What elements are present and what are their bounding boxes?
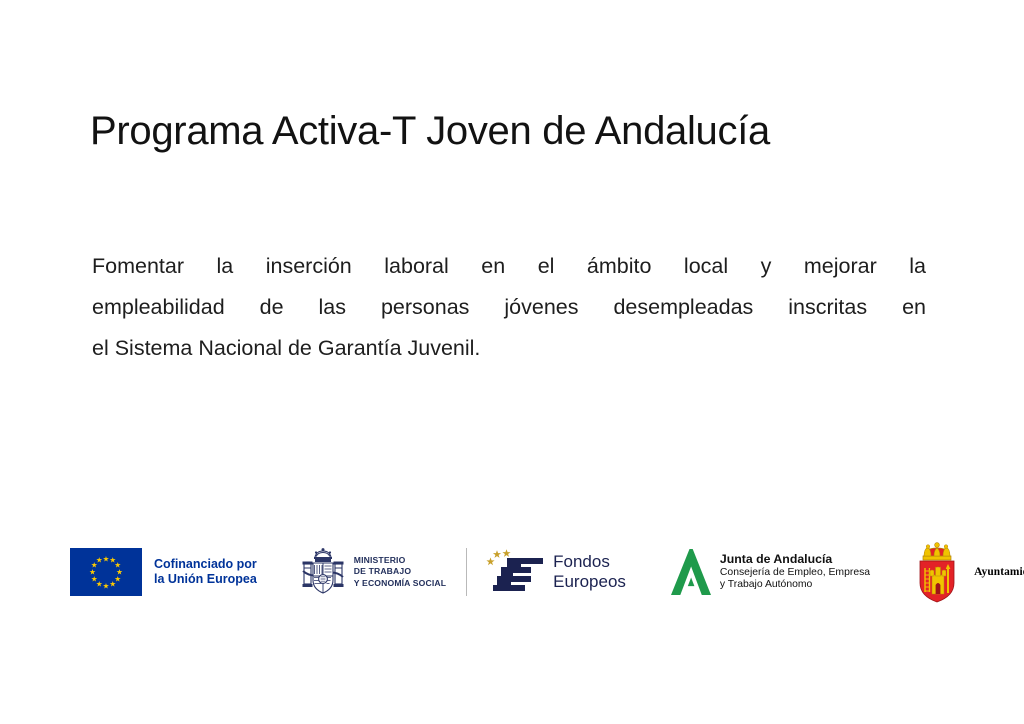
page-title: Programa Activa-T Joven de Andalucía [90, 109, 950, 154]
fondos-label: Fondos Europeos [553, 552, 626, 592]
eu-label-line-2: la Unión Europea [154, 572, 257, 588]
junta-sub-line-1: Consejería de Empleo, Empresa [720, 567, 870, 580]
junta-title: Junta de Andalucía [720, 552, 870, 567]
logo-fondos-europeos: Fondos Europeos [485, 537, 626, 607]
body-paragraph: Fomentar la inserción laboral en el ámbi… [92, 246, 926, 369]
body-line-2: empleabilidad de las personas jóvenes de… [92, 287, 926, 328]
fondos-label-line-2: Europeos [553, 572, 626, 592]
logo-junta-andalucia: Junta de Andalucía Consejería de Empleo,… [670, 537, 870, 607]
junta-sub-line-2: y Trabajo Autónomo [720, 579, 870, 592]
carcheles-coat-of-arms-icon [914, 541, 960, 603]
logo-divider [466, 548, 467, 596]
slide-canvas: Programa Activa-T Joven de Andalucía Fom… [0, 0, 1024, 724]
ministry-label-line-1: MINISTERIO [354, 555, 446, 566]
eu-label-line-1: Cofinanciado por [154, 557, 257, 573]
ministry-label-line-3: Y ECONOMÍA SOCIAL [354, 578, 446, 589]
logo-ministerio-trabajo: MINISTERIO DE TRABAJO Y ECONOMÍA SOCIAL [301, 537, 446, 607]
fondos-label-line-1: Fondos [553, 552, 626, 572]
fondos-europeos-mark-icon [485, 547, 545, 597]
logo-european-union: Cofinanciado por la Unión Europea [70, 537, 257, 607]
spain-coat-of-arms-icon [301, 546, 345, 598]
body-line-1: Fomentar la inserción laboral en el ámbi… [92, 246, 926, 287]
logo-ayuntamiento-carcheles: Ayuntamiento de Cárcheles [914, 537, 1024, 607]
junta-label: Junta de Andalucía Consejería de Empleo,… [720, 552, 870, 592]
ministry-label: MINISTERIO DE TRABAJO Y ECONOMÍA SOCIAL [354, 555, 446, 589]
ayuntamiento-label: Ayuntamiento de Cárcheles [974, 566, 1024, 578]
eu-flag-icon [70, 548, 142, 596]
eu-label: Cofinanciado por la Unión Europea [154, 557, 257, 588]
logo-bar: Cofinanciado por la Unión Europea [70, 537, 970, 607]
body-line-3: el Sistema Nacional de Garantía Juvenil. [92, 328, 926, 369]
junta-andalucia-a-icon [670, 548, 712, 596]
ministry-label-line-2: DE TRABAJO [354, 566, 446, 577]
